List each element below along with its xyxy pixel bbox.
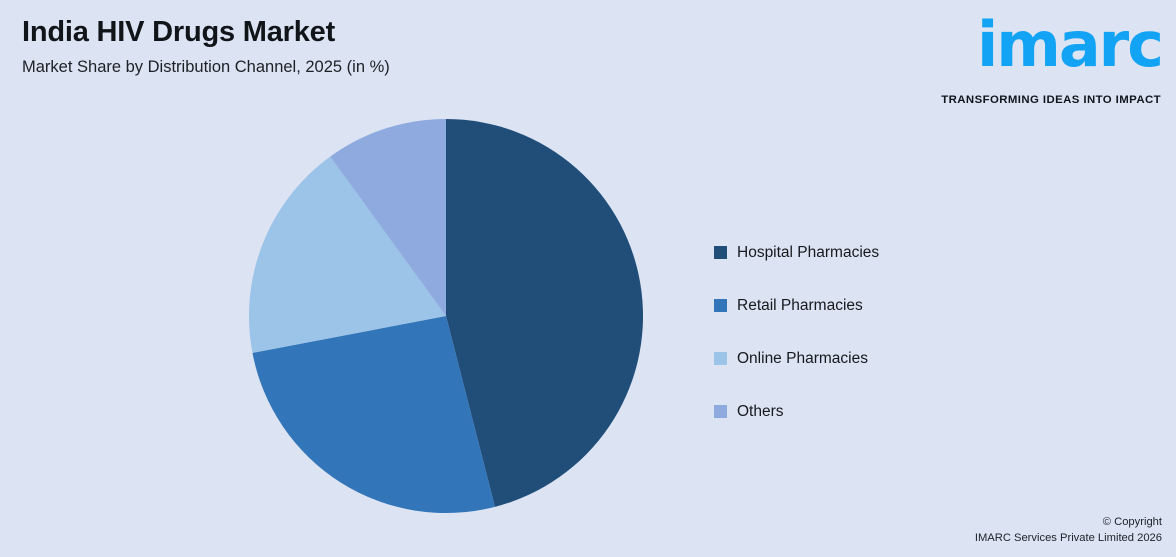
legend-swatch-icon bbox=[714, 299, 727, 312]
legend-label: Hospital Pharmacies bbox=[737, 244, 879, 262]
legend-swatch-icon bbox=[714, 352, 727, 365]
legend-label: Retail Pharmacies bbox=[737, 297, 863, 315]
copyright-block: © Copyright IMARC Services Private Limit… bbox=[975, 515, 1162, 547]
pie-chart bbox=[248, 118, 644, 514]
legend-swatch-icon bbox=[714, 405, 727, 418]
page-title: India HIV Drugs Market bbox=[22, 16, 335, 49]
legend-label: Online Pharmacies bbox=[737, 350, 868, 368]
legend-swatch-icon bbox=[714, 246, 727, 259]
copyright-line-1: © Copyright bbox=[975, 515, 1162, 531]
chart-subtitle: Market Share by Distribution Channel, 20… bbox=[22, 58, 390, 77]
legend-label: Others bbox=[737, 403, 784, 421]
legend-item[interactable]: Retail Pharmacies bbox=[714, 279, 879, 332]
legend-item[interactable]: Hospital Pharmacies bbox=[714, 226, 879, 279]
imarc-wordmark: imarc bbox=[977, 14, 1162, 76]
imarc-logo: imarc TRANSFORMING IDEAS INTO IMPACT bbox=[918, 10, 1168, 108]
legend-item[interactable]: Others bbox=[714, 385, 879, 438]
copyright-line-2: IMARC Services Private Limited 2026 bbox=[975, 531, 1162, 547]
imarc-tagline: TRANSFORMING IDEAS INTO IMPACT bbox=[941, 94, 1161, 106]
legend-item[interactable]: Online Pharmacies bbox=[714, 332, 879, 385]
pie-slice-group bbox=[249, 119, 643, 513]
chart-legend: Hospital PharmaciesRetail PharmaciesOnli… bbox=[714, 226, 879, 438]
